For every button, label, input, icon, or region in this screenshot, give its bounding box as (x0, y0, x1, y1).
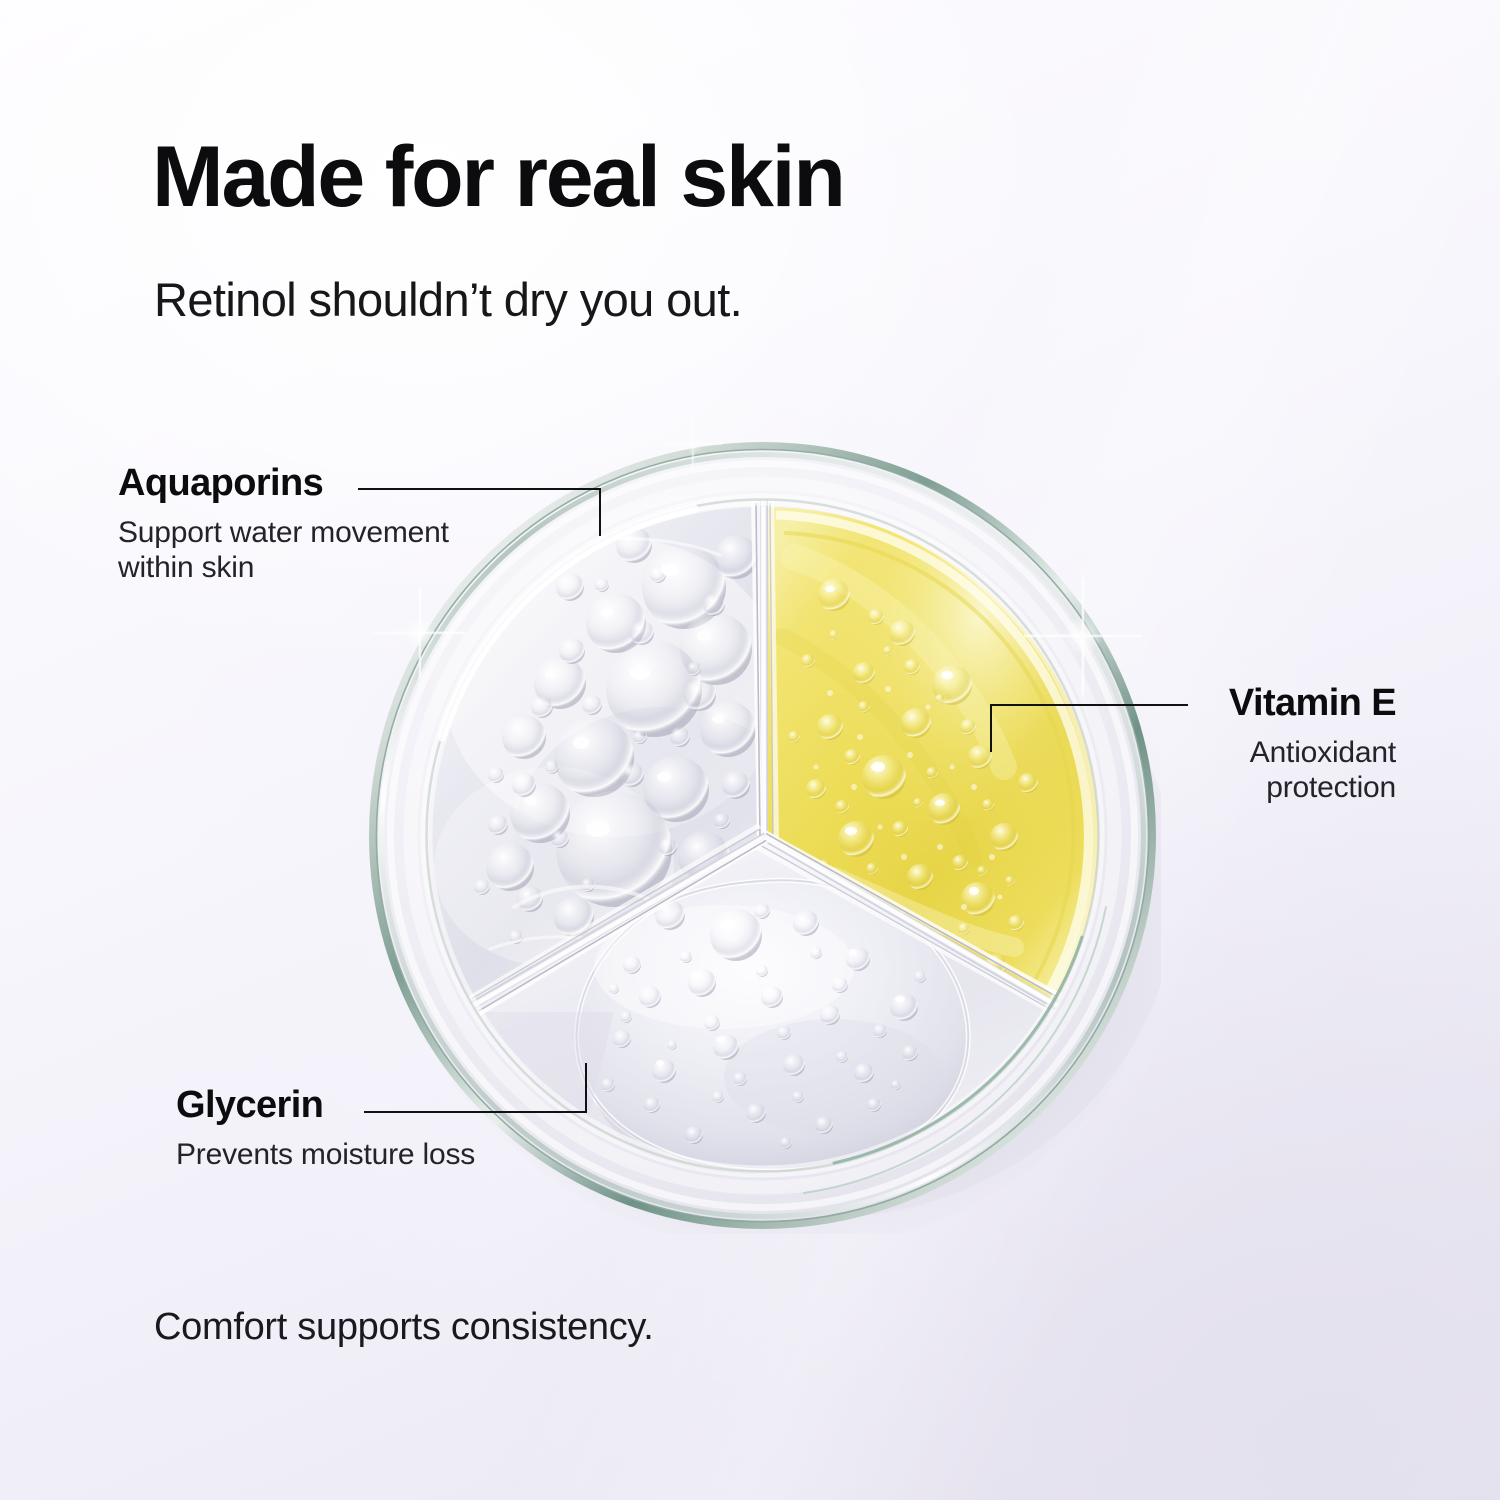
callout-aquaporins[interactable]: Aquaporins Support water movementwithin … (118, 464, 449, 585)
callout-description-vitamin-e: Antioxidantprotection (1136, 735, 1396, 805)
page-subtitle: Retinol shouldn’t dry you out. (154, 274, 742, 326)
callout-description-aquaporins: Support water movementwithin skin (118, 515, 449, 585)
scene: Made for real skin Retinol shouldn’t dry… (0, 0, 1500, 1500)
callout-description-glycerin: Prevents moisture loss (176, 1137, 475, 1172)
three-compartment-petri-dish (364, 437, 1161, 1234)
callout-glycerin[interactable]: Glycerin Prevents moisture loss (176, 1086, 475, 1172)
callout-vitamin-e[interactable]: Vitamin E Antioxidantprotection (1136, 684, 1396, 805)
page-title: Made for real skin (152, 134, 844, 220)
callout-title-aquaporins: Aquaporins (118, 464, 449, 502)
callout-title-glycerin: Glycerin (176, 1086, 475, 1124)
page-footnote: Comfort supports consistency. (154, 1306, 654, 1349)
callout-title-vitamin-e: Vitamin E (1136, 684, 1396, 722)
